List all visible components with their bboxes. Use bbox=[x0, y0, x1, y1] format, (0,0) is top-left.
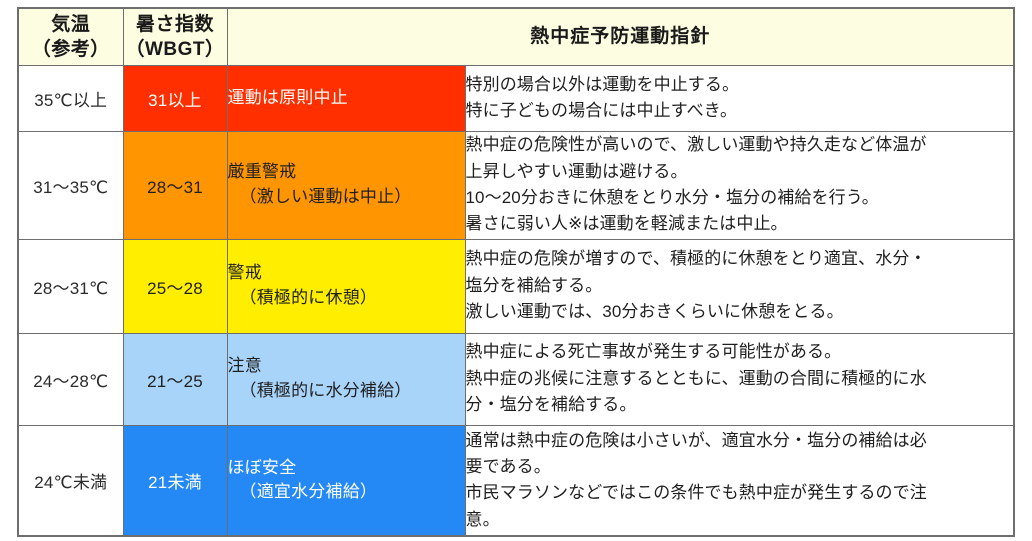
cell-temperature: 24℃未満 bbox=[18, 425, 123, 536]
table-row: 24℃未満 21未満 ほぼ安全 （適宜水分補給） 通常は熱中症の危険は小さいが、… bbox=[18, 425, 1014, 536]
cell-description: 熱中症による死亡事故が発生する可能性がある。 熱中症の兆候に注意するとともに、運… bbox=[465, 333, 1014, 425]
cell-level: 注意 （積極的に水分補給） bbox=[227, 333, 465, 425]
description-line: 激しい運動では、30分おきくらいに休憩をとる。 bbox=[466, 299, 1014, 325]
cell-description: 通常は熱中症の危険は小さいが、適宜水分・塩分の補給は必 要である。 市民マラソン… bbox=[465, 425, 1014, 536]
cell-wbgt: 31以上 bbox=[123, 65, 227, 131]
column-header-wbgt-line2: （WBGT） bbox=[124, 37, 227, 62]
description-line: 特に子どもの場合には中止すべき。 bbox=[466, 98, 1014, 124]
description-line: 上昇しやすい運動は避ける。 bbox=[466, 159, 1014, 185]
column-header-temperature-line1: 気温 bbox=[19, 12, 123, 37]
cell-level: 運動は原則中止 bbox=[227, 65, 465, 131]
column-header-guideline: 熱中症予防運動指針 bbox=[227, 8, 1014, 65]
table-row: 24〜28℃ 21〜25 注意 （積極的に水分補給） 熱中症による死亡事故が発生… bbox=[18, 333, 1014, 425]
cell-temperature: 28〜31℃ bbox=[18, 239, 123, 333]
description-line: 要である。 bbox=[466, 454, 1014, 480]
level-main: 運動は原則中止 bbox=[228, 88, 348, 107]
description-line: 分・塩分を補給する。 bbox=[466, 392, 1014, 418]
description-line: 熱中症の危険が増すので、積極的に休憩をとり適宜、水分・ bbox=[466, 246, 1014, 272]
header-row: 気温 （参考） 暑さ指数 （WBGT） 熱中症予防運動指針 bbox=[18, 8, 1014, 65]
cell-temperature: 24〜28℃ bbox=[18, 333, 123, 425]
cell-description: 熱中症の危険性が高いので、激しい運動や持久走など体温が 上昇しやすい運動は避ける… bbox=[465, 131, 1014, 239]
heat-guideline-table-container: 気温 （参考） 暑さ指数 （WBGT） 熱中症予防運動指針 35℃以上 31以上… bbox=[17, 7, 1013, 535]
cell-wbgt: 28〜31 bbox=[123, 131, 227, 239]
level-main: 警戒 bbox=[228, 263, 262, 282]
description-line: 塩分を補給する。 bbox=[466, 273, 1014, 299]
level-sub: （積極的に水分補給） bbox=[228, 379, 465, 404]
level-main: 厳重警戒 bbox=[228, 162, 297, 181]
cell-temperature: 35℃以上 bbox=[18, 65, 123, 131]
level-main: ほぼ安全 bbox=[228, 458, 297, 477]
cell-level: ほぼ安全 （適宜水分補給） bbox=[227, 425, 465, 536]
column-header-temperature-line2: （参考） bbox=[19, 37, 123, 62]
cell-description: 熱中症の危険が増すので、積極的に休憩をとり適宜、水分・ 塩分を補給する。 激しい… bbox=[465, 239, 1014, 333]
heat-stroke-prevention-guideline-table: 気温 （参考） 暑さ指数 （WBGT） 熱中症予防運動指針 35℃以上 31以上… bbox=[17, 7, 1015, 537]
level-main: 注意 bbox=[228, 356, 262, 375]
cell-wbgt: 21未満 bbox=[123, 425, 227, 536]
cell-level: 警戒 （積極的に休憩） bbox=[227, 239, 465, 333]
column-header-temperature: 気温 （参考） bbox=[18, 8, 123, 65]
description-line: 熱中症の兆候に注意するとともに、運動の合間に積極的に水 bbox=[466, 366, 1014, 392]
description-line: 意。 bbox=[466, 507, 1014, 533]
description-line: 特別の場合以外は運動を中止する。 bbox=[466, 72, 1014, 98]
table-body: 35℃以上 31以上 運動は原則中止 特別の場合以外は運動を中止する。 特に子ど… bbox=[18, 65, 1014, 536]
description-line: 暑さに弱い人※は運動を軽減または中止。 bbox=[466, 211, 1014, 237]
cell-wbgt: 25〜28 bbox=[123, 239, 227, 333]
level-sub: （激しい運動は中止） bbox=[228, 185, 465, 210]
description-line: 市民マラソンなどではこの条件でも熱中症が発生するので注 bbox=[466, 480, 1014, 506]
table-row: 28〜31℃ 25〜28 警戒 （積極的に休憩） 熱中症の危険が増すので、積極的… bbox=[18, 239, 1014, 333]
column-header-wbgt: 暑さ指数 （WBGT） bbox=[123, 8, 227, 65]
table-row: 31〜35℃ 28〜31 厳重警戒 （激しい運動は中止） 熱中症の危険性が高いの… bbox=[18, 131, 1014, 239]
cell-description: 特別の場合以外は運動を中止する。 特に子どもの場合には中止すべき。 bbox=[465, 65, 1014, 131]
description-line: 熱中症による死亡事故が発生する可能性がある。 bbox=[466, 339, 1014, 365]
description-line: 熱中症の危険性が高いので、激しい運動や持久走など体温が bbox=[466, 132, 1014, 158]
level-sub: （適宜水分補給） bbox=[228, 480, 465, 505]
description-line: 通常は熱中症の危険は小さいが、適宜水分・塩分の補給は必 bbox=[466, 428, 1014, 454]
level-sub: （積極的に休憩） bbox=[228, 286, 465, 311]
description-line: 10〜20分おきに休憩をとり水分・塩分の補給を行う。 bbox=[466, 185, 1014, 211]
cell-level: 厳重警戒 （激しい運動は中止） bbox=[227, 131, 465, 239]
table-header: 気温 （参考） 暑さ指数 （WBGT） 熱中症予防運動指針 bbox=[18, 8, 1014, 65]
column-header-wbgt-line1: 暑さ指数 bbox=[124, 12, 227, 37]
table-row: 35℃以上 31以上 運動は原則中止 特別の場合以外は運動を中止する。 特に子ど… bbox=[18, 65, 1014, 131]
cell-temperature: 31〜35℃ bbox=[18, 131, 123, 239]
cell-wbgt: 21〜25 bbox=[123, 333, 227, 425]
